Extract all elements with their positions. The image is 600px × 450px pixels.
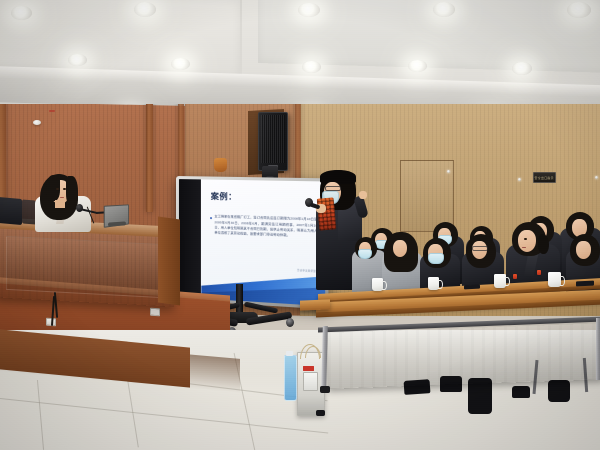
- glasses: [325, 186, 341, 191]
- decor-vase: [214, 158, 227, 172]
- floor-tile-seam: [0, 398, 328, 433]
- screen-letterbox: [179, 179, 201, 298]
- wall-sign: 安全出口指示: [533, 172, 556, 183]
- ceiling: [0, 0, 600, 118]
- smoke-detector: [33, 120, 41, 125]
- attendee-face: [393, 240, 407, 257]
- bottle-cap: [286, 351, 293, 356]
- downlight: [171, 58, 190, 70]
- smartphone-on-table[interactable]: [464, 285, 480, 290]
- tv-screen: 案例： 女工明某在某纸箱厂打工，签订合同先后签订期限为2008年1月10日至20…: [179, 179, 325, 306]
- hand: [359, 191, 367, 199]
- mug-handle: [560, 276, 565, 286]
- podium-right-side: [158, 216, 180, 305]
- chair-back: [0, 197, 22, 225]
- table-leg-foot: [320, 386, 330, 393]
- wall-pillar: [146, 104, 153, 212]
- tv-stand-caster: [286, 318, 294, 327]
- downlight: [68, 54, 87, 66]
- chair-back: [22, 199, 36, 224]
- cabinet-foot: [316, 410, 325, 416]
- smartphone-on-table[interactable]: [576, 281, 594, 287]
- lapel-pin-badge: [537, 270, 541, 275]
- eye: [56, 188, 59, 190]
- mug-handle: [438, 280, 443, 289]
- tv-bezel: 案例： 女工明某在某纸箱厂打工，签订合同先后签订期限为2008年1月10日至20…: [176, 176, 328, 309]
- downlight: [512, 62, 532, 75]
- wall-sign-label: 安全出口指示: [535, 176, 554, 180]
- attendee-face: [518, 230, 536, 252]
- wall-fixture-dot: [518, 178, 521, 181]
- slide-title: 案例：: [211, 190, 237, 202]
- neck: [55, 200, 65, 208]
- attendee-mask: [358, 249, 372, 259]
- water-bottle: [284, 355, 297, 401]
- ponytail: [538, 234, 549, 254]
- microphone-head: [76, 204, 83, 212]
- eye: [63, 188, 66, 190]
- boot: [548, 380, 570, 402]
- downlight: [567, 2, 591, 18]
- slide-bullet-marker: [210, 217, 213, 220]
- eye: [524, 238, 527, 240]
- pa-speaker: [258, 112, 288, 171]
- attendee-face: [576, 241, 591, 259]
- hair-fringe: [320, 170, 356, 184]
- cabinet-label: [303, 366, 314, 371]
- wall-fixture-dot: [595, 176, 598, 179]
- lapel-pin-badge: [513, 274, 517, 279]
- speaker-grille: [261, 115, 285, 163]
- downlight: [302, 61, 321, 73]
- podium-front-panel: [6, 236, 164, 298]
- boot: [512, 386, 530, 398]
- mug-handle: [505, 277, 510, 286]
- photo-scene: 安全出口指示 案例： 女工明某在某纸箱厂打工，签订合同先后签订期限为2008年1…: [0, 0, 600, 450]
- slide-body-text: 女工明某在某纸箱厂打工，签订合同先后签订期限为2008年1月10日至2009年6…: [214, 214, 317, 239]
- presentation-display[interactable]: 案例： 女工明某在某纸箱厂打工，签订合同先后签订期限为2008年1月10日至20…: [176, 176, 328, 309]
- downlight: [408, 60, 427, 72]
- ceiling-panel-left: [0, 0, 242, 77]
- attendee-mask: [428, 253, 444, 264]
- downlight: [11, 6, 32, 20]
- ceiling-mark-red: [49, 110, 55, 112]
- power-outlet[interactable]: [150, 308, 160, 317]
- downlight: [134, 2, 156, 17]
- hair-front-strand: [66, 176, 78, 206]
- table-modesty-panel: [328, 323, 600, 389]
- glasses: [472, 246, 488, 251]
- downlight: [298, 3, 320, 17]
- table-leg: [596, 318, 600, 380]
- wall-fixture-dot: [447, 170, 450, 173]
- patterned-scarf: [317, 197, 337, 230]
- mug-handle: [382, 281, 387, 290]
- floor-tile-seam: [37, 380, 44, 450]
- cabinet-display-panel: [303, 372, 318, 391]
- downlight: [433, 2, 455, 17]
